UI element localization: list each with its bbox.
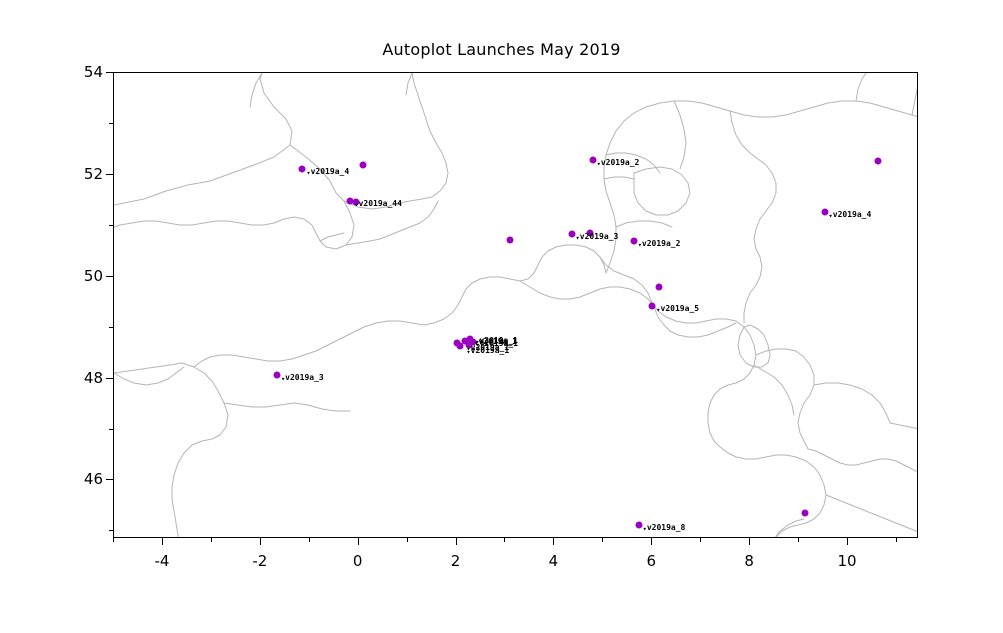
- point-label-text: v2019a_3: [285, 373, 324, 382]
- x-axis-tick: [260, 538, 261, 545]
- label-caret-icon: ▾: [466, 348, 470, 356]
- x-axis-tick-label: 2: [451, 552, 461, 570]
- x-axis-tick: [553, 538, 554, 545]
- x-axis-minor-tick: [407, 538, 408, 542]
- point-label-text: v2019a_8: [647, 523, 686, 532]
- y-axis-minor-tick: [109, 530, 113, 531]
- label-caret-icon: ▾: [656, 306, 660, 314]
- plot-area: ▾v2019a_4▾v2019a_44▾v2019a_3▾v2019a_2▾v2…: [113, 72, 918, 538]
- x-axis-tick-label: 8: [744, 552, 754, 570]
- point-label-text: v2019a_44: [359, 199, 402, 208]
- y-axis-tick-label: 48: [61, 369, 103, 387]
- x-axis-tick: [456, 538, 457, 545]
- y-axis-tick: [106, 276, 113, 277]
- x-axis-minor-tick: [309, 538, 310, 542]
- point-label: ▾v2019a_4: [306, 168, 349, 176]
- label-caret-icon: ▾: [643, 525, 647, 533]
- y-axis-tick: [106, 378, 113, 379]
- x-axis-minor-tick: [211, 538, 212, 542]
- y-axis-tick-label: 54: [61, 63, 103, 81]
- point-label: ▾v2019a_2: [638, 240, 681, 248]
- label-caret-icon: ▾: [597, 160, 601, 168]
- label-caret-icon: ▾: [281, 375, 285, 383]
- x-axis-tick-label: 0: [353, 552, 363, 570]
- y-axis-tick-label: 46: [61, 470, 103, 488]
- x-axis-minor-tick: [896, 538, 897, 542]
- label-caret-icon: ▾: [354, 201, 358, 209]
- label-caret-icon: ▾: [829, 212, 833, 220]
- x-axis-minor-tick: [504, 538, 505, 542]
- point-label: ▾v2019a_44: [354, 200, 402, 208]
- y-axis-tick-label: 52: [61, 165, 103, 183]
- figure-canvas: Autoplot Launches May 2019: [0, 0, 1003, 633]
- x-axis-tick-label: 4: [549, 552, 559, 570]
- label-caret-icon: ▾: [638, 241, 642, 249]
- y-axis-minor-tick: [109, 225, 113, 226]
- y-axis-tick: [106, 479, 113, 480]
- point-label-text: v2019a_4: [311, 167, 350, 176]
- x-axis-tick: [847, 538, 848, 545]
- x-axis-minor-tick: [798, 538, 799, 542]
- x-axis-tick: [358, 538, 359, 545]
- label-caret-icon: ▾: [306, 169, 310, 177]
- point-label-text: v2019a_2: [601, 158, 640, 167]
- page-title: Autoplot Launches May 2019: [0, 40, 1003, 59]
- y-axis-minor-tick: [109, 327, 113, 328]
- point-label-text: v2019a_5: [661, 304, 700, 313]
- point-label: ▾v2019a_1: [466, 347, 509, 355]
- y-axis-tick: [106, 72, 113, 73]
- point-label: ▾v2019a_3: [281, 374, 324, 382]
- x-axis-tick-label: -2: [252, 552, 267, 570]
- y-axis-tick: [106, 174, 113, 175]
- x-axis-tick-label: -4: [154, 552, 169, 570]
- point-label: ▾v2019a_8: [643, 524, 686, 532]
- point-label: ▾v2019a_5: [656, 305, 699, 313]
- point-labels: ▾v2019a_4▾v2019a_44▾v2019a_3▾v2019a_2▾v2…: [114, 73, 918, 538]
- x-axis-minor-tick: [602, 538, 603, 542]
- y-axis-minor-tick: [109, 123, 113, 124]
- y-axis-minor-tick: [109, 429, 113, 430]
- label-caret-icon: ▾: [576, 234, 580, 242]
- point-label-text: v2019a_2: [642, 239, 681, 248]
- x-axis-tick-label: 10: [837, 552, 856, 570]
- point-label-text: v2019a_3: [580, 232, 619, 241]
- x-axis-tick: [162, 538, 163, 545]
- point-label-text: v2019a_1: [471, 346, 510, 355]
- point-label-text: v2019a_4: [833, 210, 872, 219]
- point-label: ▾v2019a_3: [576, 233, 619, 241]
- y-axis-tick-label: 50: [61, 267, 103, 285]
- x-axis-minor-tick: [113, 538, 114, 542]
- x-axis-tick: [749, 538, 750, 545]
- point-label: ▾v2019a_2: [597, 159, 640, 167]
- point-label: ▾v2019a_4: [829, 211, 872, 219]
- x-axis-tick-label: 6: [647, 552, 657, 570]
- x-axis-tick: [651, 538, 652, 545]
- x-axis-minor-tick: [700, 538, 701, 542]
